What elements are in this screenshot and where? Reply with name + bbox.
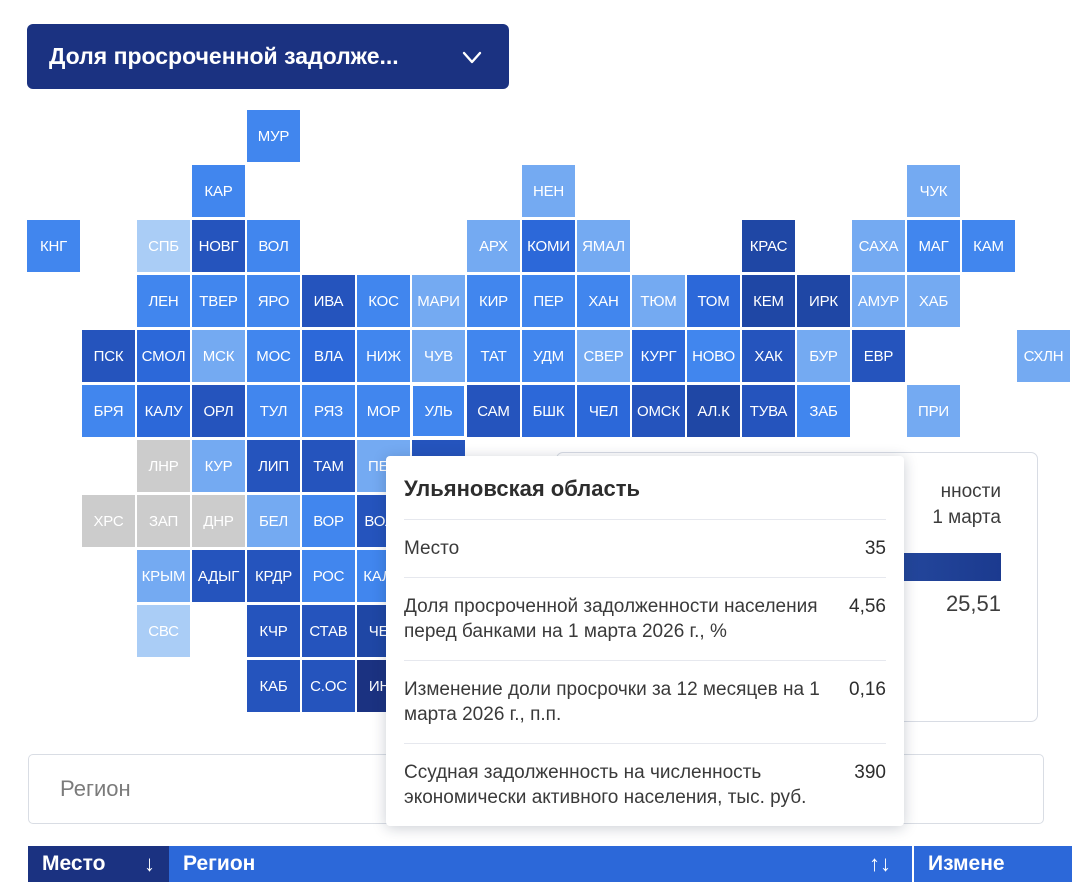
map-tile-СПБ[interactable]: СПБ bbox=[137, 220, 190, 272]
map-tile-label: СТАВ bbox=[309, 623, 347, 640]
map-tile-label: ЧУВ bbox=[424, 348, 453, 365]
map-tile-ДНР[interactable]: ДНР bbox=[192, 495, 245, 547]
map-tile-label: НИЖ bbox=[366, 348, 401, 365]
map-tile-МУР[interactable]: МУР bbox=[247, 110, 300, 162]
map-tile-КУРГ[interactable]: КУРГ bbox=[632, 330, 685, 382]
map-tile-КАБ[interactable]: КАБ bbox=[247, 660, 300, 712]
map-tile-label: СМОЛ bbox=[142, 348, 186, 365]
map-tile-АМУР[interactable]: АМУР bbox=[852, 275, 905, 327]
map-tile-label: МОР bbox=[367, 403, 401, 420]
map-tile-СМОЛ[interactable]: СМОЛ bbox=[137, 330, 190, 382]
tooltip-row-label: Место bbox=[404, 536, 851, 561]
map-tile-label: МОС bbox=[256, 348, 290, 365]
table-header-change-label: Измене bbox=[928, 852, 1005, 876]
map-tile-label: КАБ bbox=[260, 678, 288, 695]
map-tile-label: МУР bbox=[258, 128, 289, 145]
map-tile-label: ИВА bbox=[314, 293, 344, 310]
map-tile-label: КАМ bbox=[973, 238, 1004, 255]
map-tile-С.ОС[interactable]: С.ОС bbox=[302, 660, 355, 712]
map-tile-КРЫМ[interactable]: КРЫМ bbox=[137, 550, 190, 602]
map-tile-label: ЧЕЛ bbox=[589, 403, 618, 420]
map-tile-label: КЧР bbox=[259, 623, 287, 640]
map-tile-ИРК[interactable]: ИРК bbox=[797, 275, 850, 327]
tooltip-title: Ульяновская область bbox=[404, 456, 886, 519]
map-tile-БУР[interactable]: БУР bbox=[797, 330, 850, 382]
map-tile-label: ТУВА bbox=[750, 403, 787, 420]
map-tile-САХА[interactable]: САХА bbox=[852, 220, 905, 272]
map-tile-label: УЛЬ bbox=[424, 403, 452, 420]
map-tile-label: ТВЕР bbox=[199, 293, 237, 310]
map-tile-КОМИ[interactable]: КОМИ bbox=[522, 220, 575, 272]
map-tile-label: КАЛУ bbox=[145, 403, 183, 420]
tooltip-pointer-arrow bbox=[426, 436, 452, 437]
map-tile-label: ХРС bbox=[93, 513, 123, 530]
map-tile-label: АДЫГ bbox=[198, 568, 239, 585]
map-tile-УЛЬ[interactable]: УЛЬ bbox=[412, 385, 465, 437]
map-tile-label: ОМСК bbox=[637, 403, 680, 420]
sort-updown-icon: ↑↓ bbox=[869, 851, 891, 877]
map-tile-ЗАП[interactable]: ЗАП bbox=[137, 495, 190, 547]
map-tile-ВЛА[interactable]: ВЛА bbox=[302, 330, 355, 382]
map-tile-label: ЧУК bbox=[920, 183, 948, 200]
map-tile-label: КАР bbox=[204, 183, 232, 200]
map-tile-label: КРАС bbox=[750, 238, 787, 255]
map-tile-label: НЕН bbox=[533, 183, 564, 200]
tooltip-row: Доля просроченной задолженности населени… bbox=[404, 577, 886, 660]
map-tile-ЧЕЛ[interactable]: ЧЕЛ bbox=[577, 385, 630, 437]
map-tile-ТВЕР[interactable]: ТВЕР bbox=[192, 275, 245, 327]
map-tile-label: МАРИ bbox=[417, 293, 460, 310]
tooltip-row-value: 0,16 bbox=[849, 677, 886, 702]
map-tile-label: АМУР bbox=[858, 293, 899, 310]
table-header-region-label: Регион bbox=[183, 852, 255, 876]
tooltip-row-value: 35 bbox=[865, 536, 886, 561]
map-tile-label: БЕЛ bbox=[259, 513, 288, 530]
results-table-header: Место ↓ Регион ↑↓ Измене bbox=[28, 846, 1072, 882]
map-tile-СТАВ[interactable]: СТАВ bbox=[302, 605, 355, 657]
map-tile-ЕВР[interactable]: ЕВР bbox=[852, 330, 905, 382]
map-tile-label: УДМ bbox=[533, 348, 564, 365]
map-tile-НЕН[interactable]: НЕН bbox=[522, 165, 575, 217]
map-tile-МОР[interactable]: МОР bbox=[357, 385, 410, 437]
map-tile-КЧР[interactable]: КЧР bbox=[247, 605, 300, 657]
map-tile-label: ЯРО bbox=[258, 293, 290, 310]
map-tile-label: ДНР bbox=[203, 513, 233, 530]
map-tile-КНГ[interactable]: КНГ bbox=[27, 220, 80, 272]
map-tile-label: ТЮМ bbox=[640, 293, 676, 310]
map-tile-КРДР[interactable]: КРДР bbox=[247, 550, 300, 602]
map-tile-label: ХАН bbox=[588, 293, 618, 310]
map-tile-label: ТУЛ bbox=[260, 403, 287, 420]
map-tile-ТАМ[interactable]: ТАМ bbox=[302, 440, 355, 492]
sort-desc-icon: ↓ bbox=[144, 851, 155, 877]
map-tile-НОВГ[interactable]: НОВГ bbox=[192, 220, 245, 272]
map-tile-label: КОМИ bbox=[527, 238, 570, 255]
map-tile-label: МАГ bbox=[918, 238, 948, 255]
map-tile-label: МСК bbox=[203, 348, 234, 365]
table-header-sort-toggle[interactable]: ↑↓ bbox=[848, 846, 912, 882]
tooltip-row: Место35 bbox=[404, 519, 886, 577]
map-tile-БЕЛ[interactable]: БЕЛ bbox=[247, 495, 300, 547]
map-tile-КАМ[interactable]: КАМ bbox=[962, 220, 1015, 272]
map-tile-БРЯ[interactable]: БРЯ bbox=[82, 385, 135, 437]
map-tile-УДМ[interactable]: УДМ bbox=[522, 330, 575, 382]
tooltip-row-label: Изменение доли просрочки за 12 месяцев н… bbox=[404, 677, 835, 727]
map-tile-label: АЛ.К bbox=[697, 403, 729, 420]
map-tile-label: НОВГ bbox=[199, 238, 239, 255]
dashboard-root: Доля просроченной задолже... МУРКАРНЕНЧУ… bbox=[0, 0, 1072, 882]
map-tile-СХЛН[interactable]: СХЛН bbox=[1017, 330, 1070, 382]
map-tile-label: ТОМ bbox=[697, 293, 729, 310]
map-tile-ВОЛ[interactable]: ВОЛ bbox=[247, 220, 300, 272]
map-tile-КАЛУ[interactable]: КАЛУ bbox=[137, 385, 190, 437]
map-tile-label: ПРИ bbox=[918, 403, 949, 420]
table-header-place[interactable]: Место ↓ bbox=[28, 846, 169, 882]
map-tile-КУР[interactable]: КУР bbox=[192, 440, 245, 492]
map-tile-ВОР[interactable]: ВОР bbox=[302, 495, 355, 547]
map-tile-label: КИР bbox=[479, 293, 508, 310]
map-tile-МСК[interactable]: МСК bbox=[192, 330, 245, 382]
map-tile-ХАК[interactable]: ХАК bbox=[742, 330, 795, 382]
map-tile-label: ЕВР bbox=[864, 348, 893, 365]
map-tile-label: СВЕР bbox=[583, 348, 623, 365]
map-tile-АЛ.К[interactable]: АЛ.К bbox=[687, 385, 740, 437]
map-tile-label: ЛИП bbox=[258, 458, 289, 475]
tooltip-row-value: 390 bbox=[854, 760, 886, 785]
map-tile-ЛНР[interactable]: ЛНР bbox=[137, 440, 190, 492]
map-tile-ТЮМ[interactable]: ТЮМ bbox=[632, 275, 685, 327]
map-tile-label: БРЯ bbox=[94, 403, 124, 420]
map-tile-ЯМАЛ[interactable]: ЯМАЛ bbox=[577, 220, 630, 272]
map-tile-ЛИП[interactable]: ЛИП bbox=[247, 440, 300, 492]
map-tile-СВС[interactable]: СВС bbox=[137, 605, 190, 657]
map-tile-ХАН[interactable]: ХАН bbox=[577, 275, 630, 327]
map-tile-label: ВОЛ bbox=[258, 238, 288, 255]
table-header-place-label: Место bbox=[42, 852, 105, 876]
map-tile-КИР[interactable]: КИР bbox=[467, 275, 520, 327]
map-tile-ЯРО[interactable]: ЯРО bbox=[247, 275, 300, 327]
map-tile-КОС[interactable]: КОС bbox=[357, 275, 410, 327]
map-tile-label: ЛНР bbox=[148, 458, 178, 475]
map-tile-label: ОРЛ bbox=[203, 403, 233, 420]
map-tile-label: СХЛН bbox=[1024, 348, 1064, 365]
map-tile-ОМСК[interactable]: ОМСК bbox=[632, 385, 685, 437]
map-tile-label: ЗАБ bbox=[809, 403, 837, 420]
map-tile-ТОМ[interactable]: ТОМ bbox=[687, 275, 740, 327]
map-tile-label: ХАБ bbox=[919, 293, 948, 310]
map-tile-label: РОС bbox=[313, 568, 345, 585]
table-header-region[interactable]: Регион bbox=[169, 846, 848, 882]
map-tile-label: КРЫМ bbox=[142, 568, 186, 585]
map-tile-label: ЯМАЛ bbox=[582, 238, 625, 255]
map-tile-label: КЕМ bbox=[753, 293, 784, 310]
map-tile-РЯЗ[interactable]: РЯЗ bbox=[302, 385, 355, 437]
table-header-change[interactable]: Измене bbox=[912, 846, 1072, 882]
map-tile-НОВО[interactable]: НОВО bbox=[687, 330, 740, 382]
tooltip-row-label: Ссудная задолженность на численность эко… bbox=[404, 760, 840, 810]
tooltip-row-label: Доля просроченной задолженности населени… bbox=[404, 594, 835, 644]
map-tile-МОС[interactable]: МОС bbox=[247, 330, 300, 382]
map-tile-label: ТАМ bbox=[313, 458, 344, 475]
map-tile-ТАТ[interactable]: ТАТ bbox=[467, 330, 520, 382]
map-tile-label: БУР bbox=[809, 348, 837, 365]
map-tile-label: ИРК bbox=[809, 293, 838, 310]
map-tile-ЛЕН[interactable]: ЛЕН bbox=[137, 275, 190, 327]
map-tile-САМ[interactable]: САМ bbox=[467, 385, 520, 437]
map-tile-label: ХАК bbox=[754, 348, 782, 365]
map-tile-label: С.ОС bbox=[310, 678, 347, 695]
map-tile-label: БШК bbox=[533, 403, 565, 420]
map-tile-label: КРДР bbox=[255, 568, 292, 585]
map-tile-КРАС[interactable]: КРАС bbox=[742, 220, 795, 272]
map-tile-label: НОВО bbox=[692, 348, 735, 365]
map-tile-label: РЯЗ bbox=[314, 403, 343, 420]
map-tile-label: СПБ bbox=[148, 238, 179, 255]
region-tooltip: Ульяновская область Место35Доля просроче… bbox=[386, 456, 904, 826]
map-tile-label: КОС bbox=[368, 293, 398, 310]
map-tile-ТУЛ[interactable]: ТУЛ bbox=[247, 385, 300, 437]
map-tile-label: ТАТ bbox=[480, 348, 506, 365]
map-tile-НИЖ[interactable]: НИЖ bbox=[357, 330, 410, 382]
map-tile-label: ПСК bbox=[94, 348, 124, 365]
tooltip-rows: Место35Доля просроченной задолженности н… bbox=[404, 519, 886, 826]
map-tile-КАР[interactable]: КАР bbox=[192, 165, 245, 217]
map-tile-label: КУР bbox=[205, 458, 233, 475]
tooltip-row: Ссудная задолженность на численность эко… bbox=[404, 743, 886, 826]
map-tile-ЧУВ[interactable]: ЧУВ bbox=[412, 330, 465, 382]
map-tile-ТУВА[interactable]: ТУВА bbox=[742, 385, 795, 437]
map-tile-label: ПЕР bbox=[533, 293, 563, 310]
tooltip-row-value: 4,56 bbox=[849, 594, 886, 619]
map-tile-ХАБ[interactable]: ХАБ bbox=[907, 275, 960, 327]
tooltip-row: Изменение доли просрочки за 12 месяцев н… bbox=[404, 660, 886, 743]
map-tile-АДЫГ[interactable]: АДЫГ bbox=[192, 550, 245, 602]
map-tile-ПЕР[interactable]: ПЕР bbox=[522, 275, 575, 327]
map-tile-МАРИ[interactable]: МАРИ bbox=[412, 275, 465, 327]
map-tile-label: ВОР bbox=[313, 513, 344, 530]
map-tile-ХРС[interactable]: ХРС bbox=[82, 495, 135, 547]
map-tile-label: ЗАП bbox=[149, 513, 178, 530]
map-tile-label: ЛЕН bbox=[148, 293, 178, 310]
map-tile-АРХ[interactable]: АРХ bbox=[467, 220, 520, 272]
map-tile-label: САМ bbox=[477, 403, 509, 420]
map-tile-ЗАБ[interactable]: ЗАБ bbox=[797, 385, 850, 437]
map-tile-РОС[interactable]: РОС bbox=[302, 550, 355, 602]
map-tile-label: СВС bbox=[148, 623, 179, 640]
map-tile-label: ВЛА bbox=[314, 348, 343, 365]
map-tile-ПСК[interactable]: ПСК bbox=[82, 330, 135, 382]
map-tile-БШК[interactable]: БШК bbox=[522, 385, 575, 437]
map-tile-label: САХА bbox=[859, 238, 899, 255]
map-tile-МАГ[interactable]: МАГ bbox=[907, 220, 960, 272]
map-tile-label: АРХ bbox=[479, 238, 508, 255]
map-tile-ОРЛ[interactable]: ОРЛ bbox=[192, 385, 245, 437]
map-tile-ИВА[interactable]: ИВА bbox=[302, 275, 355, 327]
map-tile-label: КНГ bbox=[40, 238, 67, 255]
map-tile-КЕМ[interactable]: КЕМ bbox=[742, 275, 795, 327]
map-tile-label: КУРГ bbox=[641, 348, 677, 365]
map-tile-ЧУК[interactable]: ЧУК bbox=[907, 165, 960, 217]
map-tile-СВЕР[interactable]: СВЕР bbox=[577, 330, 630, 382]
map-tile-ПРИ[interactable]: ПРИ bbox=[907, 385, 960, 437]
